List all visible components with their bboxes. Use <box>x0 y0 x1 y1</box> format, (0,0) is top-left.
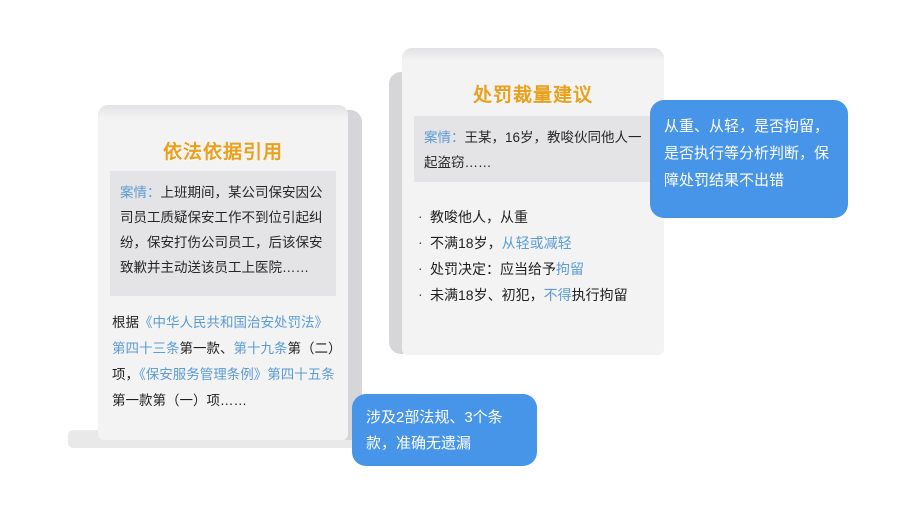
list-item: 处罚决定：应当给予拘留 <box>416 256 656 282</box>
middle-card-top-cap <box>402 48 664 61</box>
citation-seg-0: 根据 <box>112 315 139 330</box>
case-label: 案情 <box>120 185 147 200</box>
coverage-callout[interactable]: 涉及2部法规、3个条款，准确无遗漏 <box>352 394 537 466</box>
coverage-callout-text: 涉及2部法规、3个条款，准确无遗漏 <box>366 405 523 457</box>
citation-seg-6: 第一款第（一）项…… <box>112 393 247 408</box>
left-card-top-cap <box>98 105 348 118</box>
bullet-0-seg-0: 教唆他人，从重 <box>430 209 528 225</box>
penalty-case-block: 案情：王某，16岁，教唆伙同他人一起盗窃…… <box>414 116 652 182</box>
infographic-canvas: 依法依据引用 案情：上班期间，某公司保安因公司员工质疑保安工作不到位引起纠纷，保… <box>0 0 914 512</box>
legal-basis-card[interactable]: 依法依据引用 案情：上班期间，某公司保安因公司员工质疑保安工作不到位引起纠纷，保… <box>98 105 348 440</box>
bullet-1-seg-1: 从轻或减轻 <box>502 235 572 251</box>
case-label-separator: ： <box>147 185 161 200</box>
legal-basis-case-block: 案情：上班期间，某公司保安因公司员工质疑保安工作不到位引起纠纷，保安打伤公司员工… <box>110 171 336 296</box>
list-item: 不满18岁，从轻或减轻 <box>416 230 656 256</box>
discretion-callout-text: 从重、从轻，是否拘留，是否执行等分析判断，保障处罚结果不出错 <box>664 113 834 194</box>
bullet-2-seg-1: 拘留 <box>556 261 584 277</box>
penalty-suggestion-list: 教唆他人，从重 不满18岁，从轻或减轻 处罚决定：应当给予拘留 未满18岁、初犯… <box>416 204 656 308</box>
discretion-callout[interactable]: 从重、从轻，是否拘留，是否执行等分析判断，保障处罚结果不出错 <box>650 100 848 218</box>
bullet-2-seg-0: 处罚决定：应当给予 <box>430 261 556 277</box>
bullet-1-seg-0: 不满18岁， <box>430 235 502 251</box>
list-item: 教唆他人，从重 <box>416 204 656 230</box>
penalty-discretion-card-title: 处罚裁量建议 <box>402 80 664 107</box>
case-label: 案情 <box>424 130 451 145</box>
bullet-3-seg-2: 执行拘留 <box>572 287 628 303</box>
legal-basis-card-title: 依法依据引用 <box>98 137 348 164</box>
case-label-separator: ： <box>451 130 465 145</box>
penalty-case-text: 案情：王某，16岁，教唆伙同他人一起盗窃…… <box>424 125 642 175</box>
list-item: 未满18岁、初犯，不得执行拘留 <box>416 282 656 308</box>
citation-seg-2: 第一款、 <box>180 341 234 356</box>
bullet-3-seg-1: 不得 <box>544 287 572 303</box>
citation-seg-5: 《保安服务管理条例》第四十五条 <box>139 367 335 382</box>
penalty-discretion-card[interactable]: 处罚裁量建议 案情：王某，16岁，教唆伙同他人一起盗窃…… 教唆他人，从重 不满… <box>402 48 664 355</box>
legal-basis-case-text: 案情：上班期间，某公司保安因公司员工质疑保安工作不到位引起纠纷，保安打伤公司员工… <box>120 180 326 280</box>
bullet-3-seg-0: 未满18岁、初犯， <box>430 287 544 303</box>
citation-seg-3: 第十九条 <box>234 341 288 356</box>
legal-basis-citation: 根据《中华人民共和国治安处罚法》第四十三条第一款、第十九条第（二）项，《保安服务… <box>112 310 338 414</box>
